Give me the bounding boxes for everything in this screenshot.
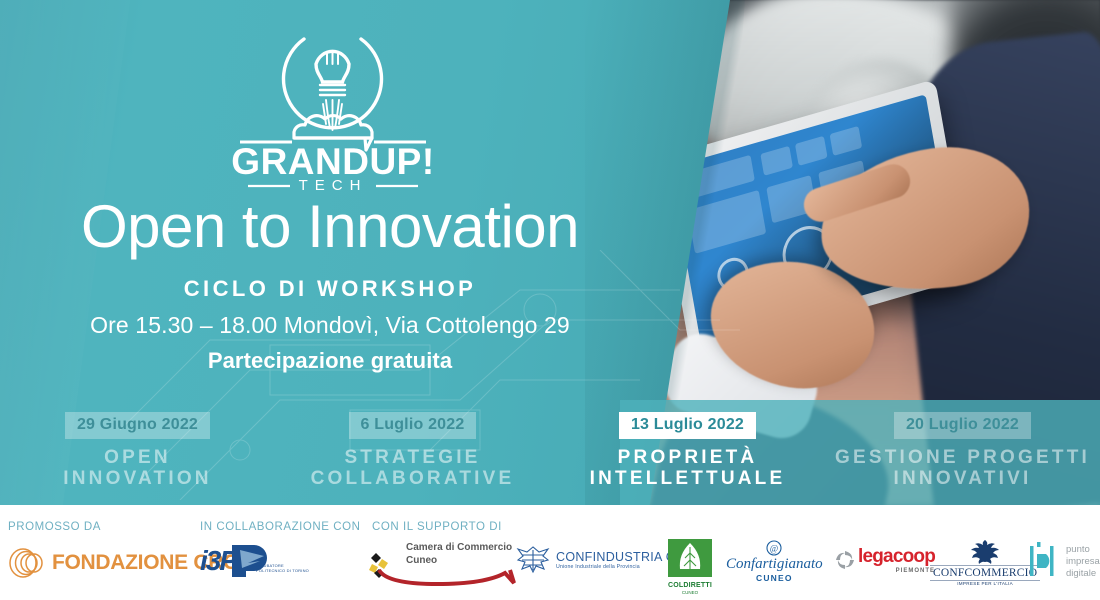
session-item-active[interactable]: 13 Luglio 2022 PROPRIETÀ INTELLETTUALE — [550, 400, 825, 505]
brand-subname: TECH — [299, 177, 368, 190]
legacoop-swirl-icon — [834, 549, 856, 571]
confcommercio-tagline: IMPRESE PER L'ITALIA — [930, 581, 1040, 586]
sponsor-labels: PROMOSSO DA IN COLLABORAZIONE CON CON IL… — [0, 521, 1100, 537]
logo-confcommercio[interactable]: CONFCOMMERCIO IMPRESE PER L'ITALIA — [930, 538, 1040, 586]
session-date-badge[interactable]: 20 Luglio 2022 — [894, 412, 1031, 439]
session-date-badge[interactable]: 29 Giugno 2022 — [65, 412, 210, 439]
session-item[interactable]: 6 Luglio 2022 STRATEGIE COLLABORATIVE — [275, 400, 550, 505]
label-con-il-supporto-di: CON IL SUPPORTO DI — [372, 521, 502, 533]
session-title: GESTIONE PROGETTI INNOVATIVI — [825, 447, 1100, 490]
session-date-badge[interactable]: 13 Luglio 2022 — [619, 412, 756, 439]
camera-swoosh-icon — [376, 568, 516, 586]
lightbulb-rocket-icon: GRANDUP! TECH — [230, 20, 436, 190]
session-date-badge[interactable]: 6 Luglio 2022 — [349, 412, 477, 439]
confartigianato-city: CUNEO — [726, 573, 823, 583]
sponsor-logos: FONDAZIONE CRC i3P INCUBATORE POLITECNIC… — [0, 538, 1100, 596]
logo-confartigianato-cuneo[interactable]: @ Confartigianato CUNEO — [726, 540, 823, 583]
pd-monogram-icon — [1028, 542, 1062, 582]
i3p-arrow-icon — [230, 543, 272, 579]
logo-coldiretti-cuneo[interactable]: COLDIRETTI CUNEO — [668, 539, 712, 595]
session-title: STRATEGIE COLLABORATIVE — [275, 447, 550, 490]
sponsor-footer: PROMOSSO DA IN COLLABORAZIONE CON CON IL… — [0, 505, 1100, 600]
camera-line2: Cuneo — [406, 555, 516, 568]
sessions-band: 29 Giugno 2022 OPEN INNOVATION 6 Luglio … — [0, 400, 1100, 505]
logo-punto-impresa-digitale[interactable]: punto impresa digitale — [1028, 542, 1100, 582]
eagle-crest-icon — [968, 538, 1002, 564]
event-poster: GRANDUP! TECH Open to Innovation CICLO D… — [0, 0, 1100, 600]
i3p-tagline: INCUBATORE POLITECNICO DI TORINO — [256, 563, 309, 573]
label-promosso-da: PROMOSSO DA — [8, 521, 101, 533]
concentric-circles-icon — [8, 546, 52, 580]
tree-icon — [668, 539, 712, 577]
coldiretti-name: COLDIRETTI — [668, 582, 712, 590]
session-title: OPEN INNOVATION — [0, 447, 275, 490]
page-title: Open to Innovation — [0, 196, 660, 258]
camera-line1: Camera di Commercio — [406, 542, 516, 555]
brand-name: GRANDUP! — [231, 141, 434, 182]
logo-legacoop-piemonte[interactable]: legacoop PIEMONTE — [834, 546, 935, 574]
coldiretti-city: CUNEO — [668, 590, 712, 595]
sessions-list: 29 Giugno 2022 OPEN INNOVATION 6 Luglio … — [0, 400, 1100, 505]
logo-camera-commercio[interactable]: Camera di Commercio Cuneo — [366, 542, 516, 591]
svg-text:@: @ — [770, 544, 778, 554]
headline-time-location: Ore 15.30 – 18.00 Mondovì, Via Cottoleng… — [0, 312, 660, 339]
session-title: PROPRIETÀ INTELLETTUALE — [550, 447, 825, 490]
confcommercio-name: CONFCOMMERCIO — [933, 567, 1037, 579]
headline-block: Open to Innovation CICLO DI WORKSHOP Ore… — [0, 196, 660, 374]
logo-i3p[interactable]: i3P INCUBATORE POLITECNICO DI TORINO — [200, 543, 309, 579]
legacoop-name: legacoop — [858, 546, 935, 568]
pid-wordmark: punto impresa digitale — [1066, 544, 1100, 580]
headline-free-note: Partecipazione gratuita — [0, 348, 660, 374]
session-item[interactable]: 20 Luglio 2022 GESTIONE PROGETTI INNOVAT… — [825, 400, 1100, 505]
eagle-emblem-icon — [516, 544, 550, 576]
session-item[interactable]: 29 Giugno 2022 OPEN INNOVATION — [0, 400, 275, 505]
confartigianato-name: Confartigianato — [726, 556, 823, 573]
legacoop-region: PIEMONTE — [858, 568, 935, 574]
headline-subtitle: CICLO DI WORKSHOP — [0, 276, 660, 302]
at-circle-icon: @ — [765, 540, 783, 556]
label-in-collaborazione: IN COLLABORAZIONE CON — [200, 521, 360, 533]
brand-logo: GRANDUP! TECH — [218, 20, 448, 190]
